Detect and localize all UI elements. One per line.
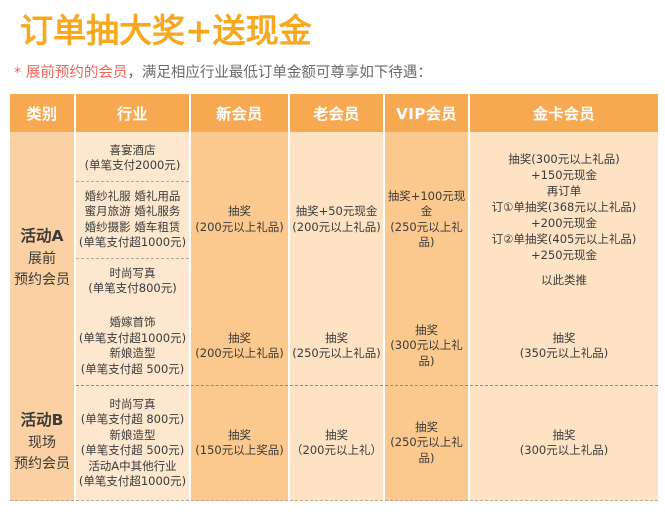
text-line: (单笔支付超 500元) xyxy=(78,443,187,459)
col-header-old-member: 老会员 xyxy=(289,94,384,132)
table-row: 婚嫁首饰(单笔支付超1000元)新娘造型(单笔支付超 500元) 抽奖(200元… xyxy=(10,307,658,386)
text-line: 抽奖 xyxy=(290,331,383,347)
page-title: 订单抽大奖+送现金 xyxy=(20,8,312,54)
text-line: (200元以上礼品) xyxy=(191,346,288,362)
text-line: 订②单抽奖(405元以上礼品) xyxy=(470,231,658,247)
cell-vip-member-a1: 抽奖+100元现金(250元以上礼品) xyxy=(384,132,469,307)
text-line: 婚嫁首饰 xyxy=(78,315,187,331)
text-line: 蜜月旅游 婚礼服务 xyxy=(78,204,187,220)
cell-old-member-b1: 抽奖（200元以上礼） xyxy=(289,386,384,501)
industry-block: 时尚写真(单笔支付超 800元)新娘造型(单笔支付超 500元)活动A中其他行业… xyxy=(76,390,189,497)
text-line: 抽奖 xyxy=(470,428,658,444)
text-line: (250元以上礼品) xyxy=(385,435,468,466)
text-line: (单笔支付超 500元) xyxy=(78,362,187,378)
text-line: (单笔支付2000元) xyxy=(78,158,187,174)
text-line: (250元以上礼品) xyxy=(385,220,468,251)
text-line: (单笔支付超1000元) xyxy=(78,331,187,347)
cell-old-member-a1: 抽奖+50元现金(200元以上礼品) xyxy=(289,132,384,307)
text-line: (单笔支付800元) xyxy=(78,281,187,297)
category-line3-b: 预约会员 xyxy=(14,456,70,472)
subtitle-highlight: * 展前预约的会员 xyxy=(14,65,127,81)
industry-block: 婚纱礼服 婚礼用品蜜月旅游 婚礼服务婚纱摄影 婚车租赁(单笔支付超1000元) xyxy=(76,181,189,258)
category-name-a: 活动A xyxy=(10,226,74,247)
cell-category-a: 活动A 展前 预约会员 xyxy=(10,132,75,386)
text-line: (300元以上礼品) xyxy=(385,338,468,369)
text-line: 抽奖+100元现金 xyxy=(385,189,468,220)
cell-gold-member-a2: 抽奖(350元以上礼品) xyxy=(469,307,658,386)
text-line: +200元现金 xyxy=(470,215,658,231)
table-header-row: 类别 行业 新会员 老会员 VIP会员 金卡会员 xyxy=(10,94,658,132)
category-label-b: 活动B 现场 预约会员 xyxy=(10,410,74,475)
cell-vip-member-b1: 抽奖(250元以上礼品) xyxy=(384,386,469,501)
text-line: 婚纱摄影 婚车租赁 xyxy=(78,220,187,236)
text-line: 订①单抽奖(368元以上礼品) xyxy=(470,199,658,215)
text-line: 时尚写真 xyxy=(78,397,187,413)
industry-block: 喜宴酒店(单笔支付2000元) xyxy=(76,136,189,181)
text-line: (单笔支付超1000元) xyxy=(78,235,187,251)
cell-industry-a1: 喜宴酒店(单笔支付2000元) 婚纱礼服 婚礼用品蜜月旅游 婚礼服务婚纱摄影 婚… xyxy=(75,132,190,307)
text-line: （200元以上礼） xyxy=(290,443,383,459)
text-line: 活动A中其他行业 xyxy=(78,459,187,475)
cell-gold-member-a1: 抽奖(300元以上礼品)+150元现金再订单订①单抽奖(368元以上礼品)+20… xyxy=(469,132,658,307)
text-line: (单笔支付超1000元) xyxy=(78,474,187,490)
text-line: 抽奖 xyxy=(290,428,383,444)
text-line: 抽奖 xyxy=(385,420,468,436)
page-subtitle: * 展前预约的会员，满足相应行业最低订单金额可尊享如下待遇： xyxy=(14,62,432,84)
text-line: 新娘造型 xyxy=(78,346,187,362)
text-line: 再订单 xyxy=(470,183,658,199)
text-line: 喜宴酒店 xyxy=(78,143,187,159)
industry-block: 时尚写真(单笔支付800元) xyxy=(76,258,189,304)
text-line xyxy=(470,263,658,272)
text-line: 抽奖 xyxy=(191,204,288,220)
cell-industry-b1: 时尚写真(单笔支付超 800元)新娘造型(单笔支付超 500元)活动A中其他行业… xyxy=(75,386,190,501)
text-line: 抽奖 xyxy=(385,323,468,339)
col-header-new-member: 新会员 xyxy=(190,94,289,132)
text-line: 婚纱礼服 婚礼用品 xyxy=(78,189,187,205)
col-header-gold-member: 金卡会员 xyxy=(469,94,658,132)
col-header-industry: 行业 xyxy=(75,94,190,132)
category-line2-b: 现场 xyxy=(28,435,56,451)
industry-block: 婚嫁首饰(单笔支付超1000元)新娘造型(单笔支付超 500元) xyxy=(76,308,189,384)
cell-new-member-a2: 抽奖(200元以上礼品) xyxy=(190,307,289,386)
category-line2-a: 展前 xyxy=(28,251,56,267)
category-line3-a: 预约会员 xyxy=(14,272,70,288)
cell-category-b: 活动B 现场 预约会员 xyxy=(10,386,75,501)
text-line: (单笔支付超 800元) xyxy=(78,412,187,428)
text-line: (150元以上奖品) xyxy=(191,443,288,459)
cell-gold-member-b1: 抽奖(300元以上礼品) xyxy=(469,386,658,501)
text-line: 新娘造型 xyxy=(78,428,187,444)
cell-vip-member-a2: 抽奖(300元以上礼品) xyxy=(384,307,469,386)
text-line: 抽奖 xyxy=(191,331,288,347)
text-line: (350元以上礼品) xyxy=(470,346,658,362)
benefits-table: 类别 行业 新会员 老会员 VIP会员 金卡会员 活动A 展前 预约会员 xyxy=(10,94,658,501)
cell-new-member-b1: 抽奖(150元以上奖品) xyxy=(190,386,289,501)
text-line: (300元以上礼品) xyxy=(470,443,658,459)
text-line: 抽奖+50元现金 xyxy=(290,204,383,220)
text-line: 时尚写真 xyxy=(78,266,187,282)
text-line: 抽奖 xyxy=(470,331,658,347)
cell-industry-a2: 婚嫁首饰(单笔支付超1000元)新娘造型(单笔支付超 500元) xyxy=(75,307,190,386)
col-header-vip-member: VIP会员 xyxy=(384,94,469,132)
text-line: (200元以上礼品) xyxy=(290,220,383,236)
category-label-a: 活动A 展前 预约会员 xyxy=(10,226,74,291)
col-header-category: 类别 xyxy=(10,94,75,132)
text-line: +150元现金 xyxy=(470,167,658,183)
text-line: +250元现金 xyxy=(470,247,658,263)
text-line: (200元以上礼品) xyxy=(191,220,288,236)
text-line: 以此类推 xyxy=(470,272,658,288)
text-line: 抽奖 xyxy=(191,428,288,444)
table-row: 活动A 展前 预约会员 喜宴酒店(单笔支付2000元) 婚纱礼服 婚礼用品蜜月旅… xyxy=(10,132,658,307)
table-row: 活动B 现场 预约会员 时尚写真(单笔支付超 800元)新娘造型(单笔支付超 5… xyxy=(10,386,658,501)
text-line: 抽奖(300元以上礼品) xyxy=(470,151,658,167)
subtitle-rest: ，满足相应行业最低订单金额可尊享如下待遇： xyxy=(127,65,432,81)
promo-page: 订单抽大奖+送现金 * 展前预约的会员，满足相应行业最低订单金额可尊享如下待遇：… xyxy=(0,0,665,516)
cell-new-member-a1: 抽奖(200元以上礼品) xyxy=(190,132,289,307)
category-name-b: 活动B xyxy=(10,410,74,431)
text-line: (250元以上礼品) xyxy=(290,346,383,362)
cell-old-member-a2: 抽奖(250元以上礼品) xyxy=(289,307,384,386)
